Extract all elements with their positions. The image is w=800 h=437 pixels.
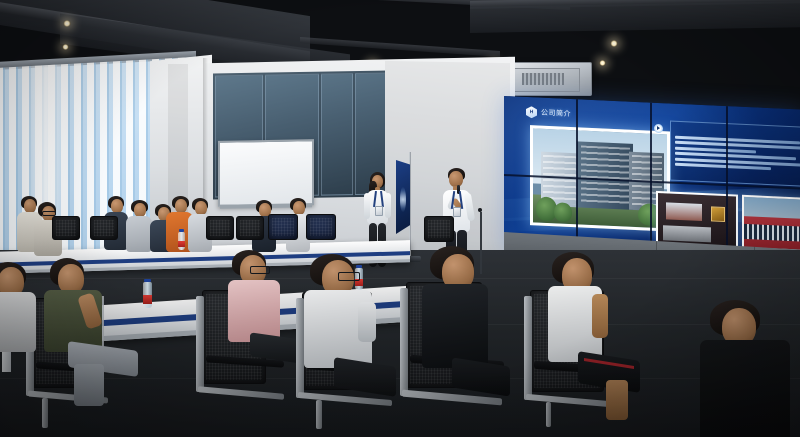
leg: [74, 364, 104, 406]
downlight: [610, 40, 618, 47]
leg-bare: [606, 380, 628, 420]
chair-back-row[interactable]: [52, 216, 78, 250]
downlight: [599, 60, 606, 66]
screenshot-root: H 公司简介: [0, 0, 800, 437]
downlight: [62, 44, 69, 50]
chair-back-row[interactable]: [206, 216, 232, 250]
play-icon[interactable]: [654, 124, 663, 133]
mic-stand-head: [478, 208, 482, 212]
arm: [358, 302, 376, 342]
hexagon-badge-icon: H: [526, 106, 537, 118]
torso: [422, 284, 488, 368]
glasses-icon: [338, 272, 360, 281]
head: [111, 199, 123, 213]
arm: [364, 193, 370, 219]
head: [195, 201, 207, 215]
downlight: [63, 20, 71, 27]
slide-photo-group: [742, 195, 800, 253]
audience-front-4: [422, 246, 522, 416]
audience-front-3: [300, 254, 410, 414]
company-flag: [396, 160, 410, 234]
chair-back-row[interactable]: [306, 214, 334, 250]
flag-emblem: [400, 187, 406, 212]
torso: [126, 216, 152, 252]
water-bottle[interactable]: [178, 232, 185, 250]
chair-back-row[interactable]: [236, 216, 262, 250]
audience-foreground-left: [0, 262, 56, 382]
audience-front-5: [540, 252, 646, 420]
head: [293, 201, 305, 215]
head: [134, 203, 146, 217]
slide-title: 公司简介: [541, 108, 571, 119]
whiteboard: [218, 139, 314, 207]
head: [449, 171, 463, 187]
id-badge: [453, 207, 461, 217]
arm: [385, 193, 391, 218]
head: [175, 199, 187, 213]
bottle-cap: [179, 229, 184, 232]
chair-back-row[interactable]: [268, 214, 296, 250]
chair-back-row[interactable]: [90, 216, 116, 250]
leg: [334, 357, 396, 397]
arm: [592, 294, 608, 338]
audience-foreground-right: [700, 300, 800, 437]
leg: [250, 332, 302, 363]
glasses-icon: [250, 266, 270, 274]
id-badge: [375, 206, 383, 216]
glass-pane: [321, 73, 353, 196]
torso: [700, 340, 790, 437]
slide-badge: H 公司简介: [526, 106, 571, 120]
audience-front-1: [44, 258, 154, 408]
leg: [452, 357, 510, 396]
slide-text-block: [670, 121, 800, 187]
torso: [0, 292, 36, 352]
